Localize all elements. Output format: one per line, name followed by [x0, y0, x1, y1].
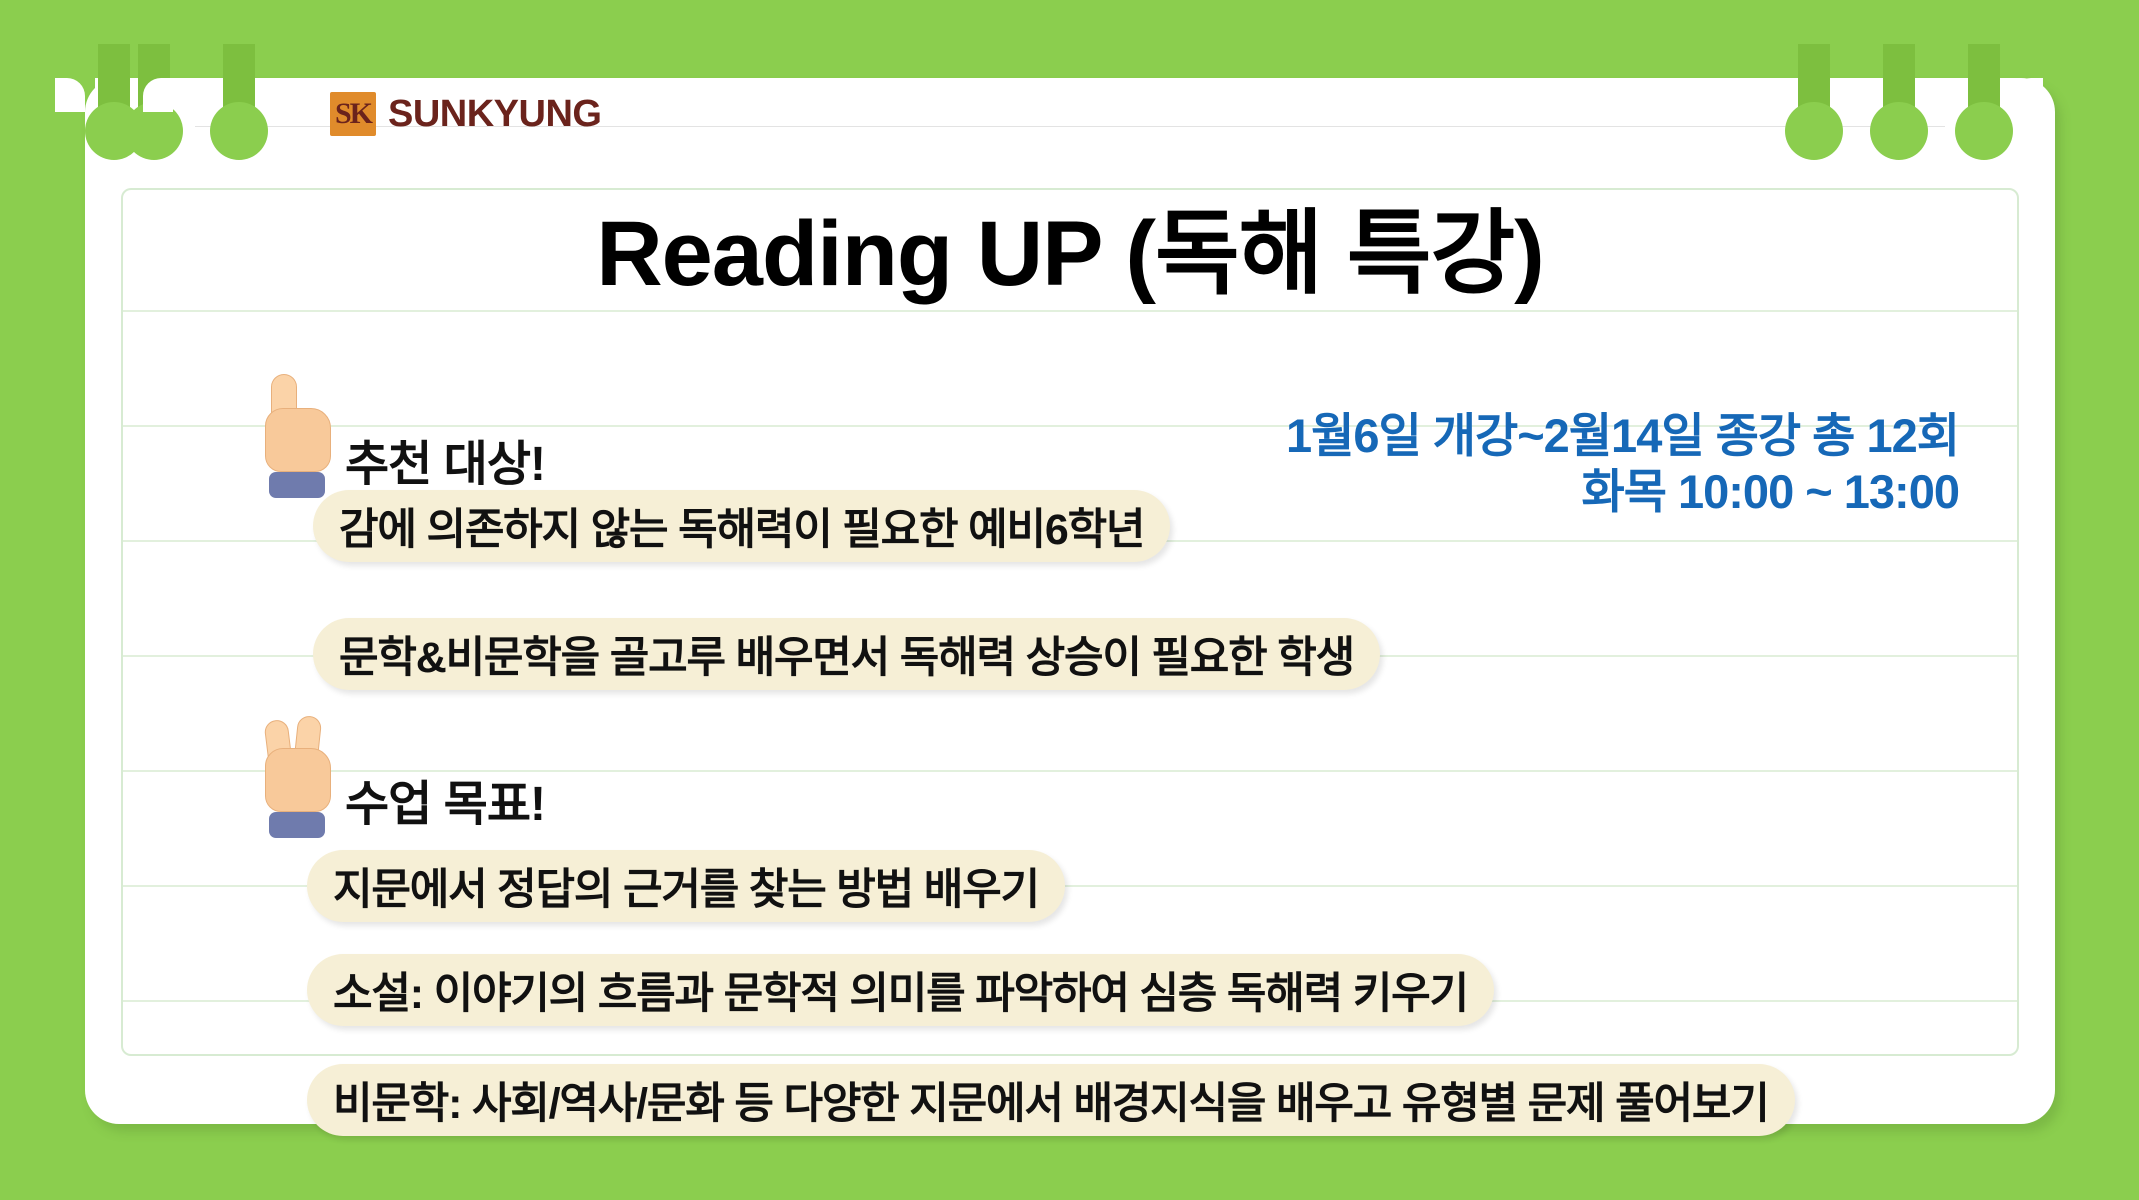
sk-logo-icon: SK — [330, 92, 376, 136]
pointing-finger-icon — [263, 378, 331, 498]
brand-logo: SK SUNKYUNG — [330, 92, 601, 136]
section-heading-label: 추천 대상! — [345, 424, 545, 498]
header-strip: SK SUNKYUNG — [85, 78, 2055, 142]
schedule-line-1: 1월6일 개강~2월14일 종강 총 12회 — [1286, 408, 1959, 464]
brand-name: SUNKYUNG — [388, 93, 601, 136]
peace-hand-icon — [263, 718, 331, 838]
list-item: 문학&비문학을 골고루 배우면서 독해력 상승이 필요한 학생 — [313, 618, 1380, 690]
rule-line — [123, 310, 2017, 312]
list-item: 소설: 이야기의 흐름과 문학적 의미를 파악하여 심층 독해력 키우기 — [307, 954, 1494, 1026]
list-item: 감에 의존하지 않는 독해력이 필요한 예비6학년 — [313, 490, 1170, 562]
list-item: 비문학: 사회/역사/문화 등 다양한 지문에서 배경지식을 배우고 유형별 문… — [307, 1064, 1795, 1136]
section-heading-label: 수업 목표! — [345, 764, 545, 838]
page-title: Reading UP (독해 특강) — [85, 208, 2055, 300]
notebook-card: SK SUNKYUNG Reading UP (독해 특강) 1월6일 개강~2… — [85, 78, 2055, 1124]
section-heading-goals: 수업 목표! — [263, 718, 545, 838]
section-heading-target: 추천 대상! — [263, 378, 545, 498]
list-item: 지문에서 정답의 근거를 찾는 방법 배우기 — [307, 850, 1065, 922]
schedule-block: 1월6일 개강~2월14일 종강 총 12회 화목 10:00 ~ 13:00 — [1286, 408, 1959, 521]
schedule-line-2: 화목 10:00 ~ 13:00 — [1286, 464, 1959, 520]
